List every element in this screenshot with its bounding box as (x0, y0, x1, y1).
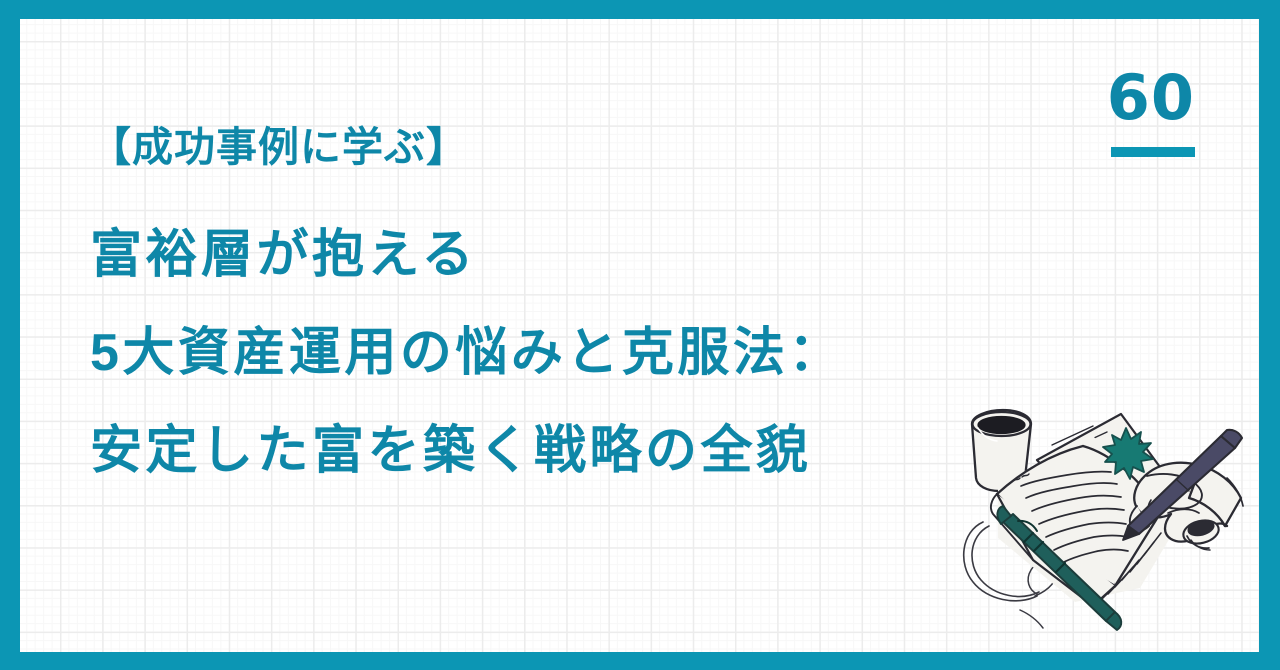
frame-border-right (1259, 0, 1280, 670)
frame-border-top (0, 0, 1280, 19)
journal-writing-illustration (925, 374, 1255, 652)
eyecatch-canvas: 60 【成功事例に学ぶ】 富裕層が抱える 5大資産運用の悩みと克服法： 安定した… (0, 0, 1280, 670)
title-line-3: 安定した富を築く戦略の全貌 (90, 425, 950, 477)
badge-number: 60 (1107, 67, 1195, 129)
badge-underline-rule (1111, 147, 1195, 157)
frame-border-left (0, 0, 20, 670)
page-title: 富裕層が抱える 5大資産運用の悩みと克服法： 安定した富を築く戦略の全貌 (90, 229, 950, 477)
graph-paper-background: 60 【成功事例に学ぶ】 富裕層が抱える 5大資産運用の悩みと克服法： 安定した… (20, 19, 1259, 652)
text-block: 【成功事例に学ぶ】 富裕層が抱える 5大資産運用の悩みと克服法： 安定した富を築… (90, 124, 950, 477)
subtitle-bracketed: 【成功事例に学ぶ】 (90, 124, 950, 171)
title-line-2: 5大資産運用の悩みと克服法： (90, 327, 950, 379)
frame-border-bottom (0, 652, 1280, 670)
number-badge: 60 (1107, 67, 1195, 157)
title-line-1: 富裕層が抱える (90, 229, 950, 281)
